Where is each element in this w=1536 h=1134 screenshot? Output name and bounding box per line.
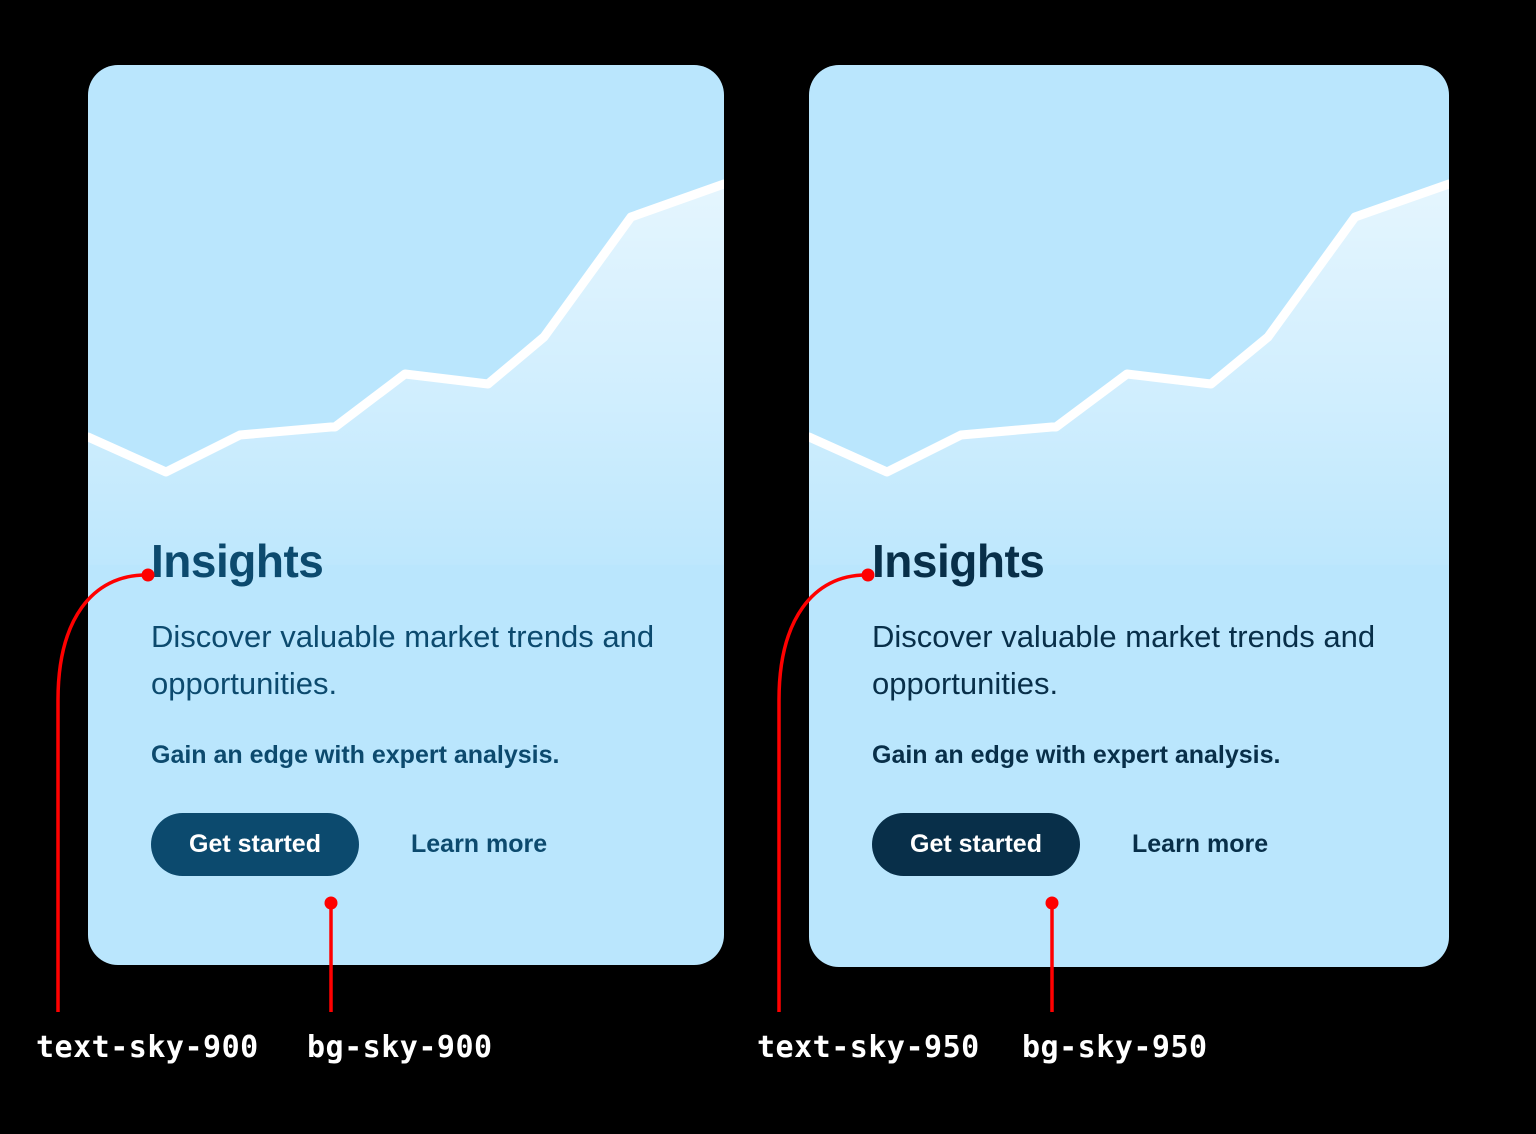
annotation-label-text-sky-900: text-sky-900 xyxy=(36,1030,259,1065)
card-1-primary-button[interactable]: Get started xyxy=(151,813,359,876)
card-1-body: Insights Discover valuable market trends… xyxy=(151,537,684,876)
card-sky-950: Insights Discover valuable market trends… xyxy=(809,65,1449,967)
card-1-actions: Get started Learn more xyxy=(151,813,684,876)
card-1-description: Discover valuable market trends and oppo… xyxy=(151,613,671,707)
card-2-description: Discover valuable market trends and oppo… xyxy=(872,613,1392,707)
card-2-actions: Get started Learn more xyxy=(872,813,1409,876)
card-2-chart xyxy=(809,65,1449,565)
card-2-body: Insights Discover valuable market trends… xyxy=(872,537,1409,876)
chart-line xyxy=(88,184,724,472)
card-1-title: Insights xyxy=(151,537,684,587)
annotation-label-bg-sky-900: bg-sky-900 xyxy=(307,1030,493,1065)
annotation-label-bg-sky-950: bg-sky-950 xyxy=(1022,1030,1208,1065)
annotation-label-text-sky-950: text-sky-950 xyxy=(757,1030,980,1065)
screenshot-stage: Insights Discover valuable market trends… xyxy=(0,0,1536,1134)
card-sky-900: Insights Discover valuable market trends… xyxy=(88,65,724,965)
card-2-title: Insights xyxy=(872,537,1409,587)
chart-area-fill xyxy=(809,184,1449,565)
card-2-secondary-link[interactable]: Learn more xyxy=(1132,832,1268,857)
card-2-subtext: Gain an edge with expert analysis. xyxy=(872,739,1409,772)
card-1-secondary-link[interactable]: Learn more xyxy=(411,832,547,857)
card-1-chart xyxy=(88,65,724,565)
card-1-subtext: Gain an edge with expert analysis. xyxy=(151,739,684,772)
chart-area-fill xyxy=(88,184,724,565)
chart-line xyxy=(809,184,1449,472)
card-2-primary-button[interactable]: Get started xyxy=(872,813,1080,876)
